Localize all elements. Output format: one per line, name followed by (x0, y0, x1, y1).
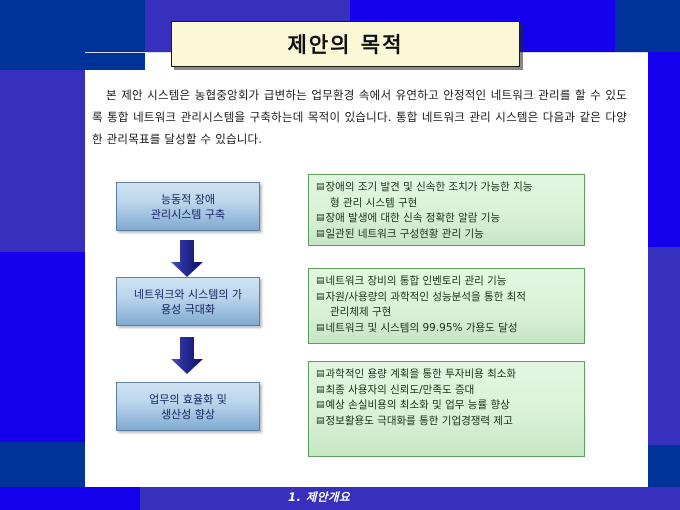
list-item-continuation: 관리체제 구현 (316, 305, 578, 321)
flow-box-1-label: 능동적 장애 관리시스템 구축 (151, 192, 225, 222)
list-item: ▤ 일관된 네트워크 구성현황 관리 기능 (316, 227, 578, 243)
deco-block-top-left-navy (0, 0, 145, 70)
flow-box-2-line1: 네트워크와 시스템의 가 (134, 288, 242, 301)
flow-box-1: 능동적 장애 관리시스템 구축 (116, 182, 260, 231)
flow-box-1-line2: 관리시스템 구축 (151, 208, 225, 221)
list-item-text: 장애의 조기 발견 및 신속한 조치가 가능한 지능 (326, 180, 578, 196)
list-item-text: 자원/사용량의 과학적인 성능분석을 통한 최적 (326, 290, 578, 306)
slide-canvas: 제안의 목적 본 제안 시스템은 농협중앙회가 급변하는 업무환경 속에서 유연… (0, 0, 680, 510)
square-bullet-icon: ▤ (316, 414, 325, 430)
list-item-text: 정보활용도 극대화를 통한 기업경쟁력 제고 (326, 414, 578, 430)
flow-box-2-line2: 용성 극대화 (161, 303, 215, 316)
page-title: 제안의 목적 (288, 29, 404, 59)
list-item: ▤ 네트워크 및 시스템의 99.95% 가용도 달성 (316, 321, 578, 337)
list-item: ▤ 정보활용도 극대화를 통한 기업경쟁력 제고 (316, 414, 578, 430)
flow-box-1-line1: 능동적 장애 (161, 193, 215, 206)
intro-paragraph: 본 제안 시스템은 농협중앙회가 급변하는 업무환경 속에서 유연하고 안정적인… (92, 84, 627, 150)
flow-box-2-label: 네트워크와 시스템의 가 용성 극대화 (134, 287, 242, 317)
deco-block-left-violet (0, 70, 85, 252)
flow-box-3-line1: 업무의 효율화 및 (149, 393, 227, 406)
list-item: ▤ 예상 손실비용의 최소화 및 업무 능률 향상 (316, 398, 578, 414)
deco-block-right-blue (648, 52, 680, 247)
square-bullet-icon: ▤ (316, 180, 325, 196)
list-item: ▤ 장애의 조기 발견 및 신속한 조치가 가능한 지능 (316, 180, 578, 196)
list-item: ▤ 네트워크 장비의 통합 인벤토리 관리 기능 (316, 274, 578, 290)
list-item-text: 장애 발생에 대한 신속 정확한 알람 기능 (326, 211, 578, 227)
list-item-text: 일관된 네트워크 구성현황 관리 기능 (326, 227, 578, 243)
footer-bar (85, 487, 680, 510)
list-item-text: 네트워크 및 시스템의 99.95% 가용도 달성 (326, 321, 578, 337)
square-bullet-icon: ▤ (316, 227, 325, 243)
square-bullet-icon: ▤ (316, 290, 325, 306)
flow-box-3-line2: 생산성 향상 (161, 408, 215, 421)
square-bullet-icon: ▤ (316, 367, 325, 383)
down-arrow-icon-1 (170, 240, 204, 278)
list-item-text: 예상 손실비용의 최소화 및 업무 능률 향상 (326, 398, 578, 414)
deco-block-right-violet (648, 247, 680, 445)
list-item: ▤ 최종 사용자의 신뢰도/만족도 증대 (316, 383, 578, 399)
list-item-text: 과학적인 용량 계획을 통한 투자비용 최소화 (326, 367, 578, 383)
flow-box-2: 네트워크와 시스템의 가 용성 극대화 (116, 277, 260, 326)
list-item: ▤ 과학적인 용량 계획을 통한 투자비용 최소화 (316, 367, 578, 383)
list-item-continuation: 형 관리 시스템 구현 (316, 196, 578, 212)
flow-box-3-label: 업무의 효율화 및 생산성 향상 (149, 392, 227, 422)
list-item: ▤ 자원/사용량의 과학적인 성능분석을 통한 최적 (316, 290, 578, 306)
objectives-panel-2: ▤ 네트워크 장비의 통합 인벤토리 관리 기능 ▤ 자원/사용량의 과학적인 … (308, 268, 585, 344)
deco-block-left-blue (0, 252, 85, 442)
square-bullet-icon: ▤ (316, 383, 325, 399)
square-bullet-icon: ▤ (316, 274, 325, 290)
slide-title-box: 제안의 목적 (171, 21, 520, 67)
objectives-panel-3: ▤ 과학적인 용량 계획을 통한 투자비용 최소화 ▤ 최종 사용자의 신뢰도/… (308, 361, 585, 457)
square-bullet-icon: ▤ (316, 398, 325, 414)
footer-bar-accent (0, 487, 140, 510)
flow-box-3: 업무의 효율화 및 생산성 향상 (116, 382, 260, 431)
down-arrow-icon-2 (170, 337, 204, 375)
footer-section-label: 1. 제안개요 (288, 489, 350, 505)
square-bullet-icon: ▤ (316, 321, 325, 337)
objectives-panel-1: ▤ 장애의 조기 발견 및 신속한 조치가 가능한 지능 형 관리 시스템 구현… (308, 174, 585, 246)
list-item-text: 최종 사용자의 신뢰도/만족도 증대 (326, 383, 578, 399)
list-item-text: 네트워크 장비의 통합 인벤토리 관리 기능 (326, 274, 578, 290)
deco-block-top-right-navy (615, 0, 680, 52)
list-item: ▤ 장애 발생에 대한 신속 정확한 알람 기능 (316, 211, 578, 227)
square-bullet-icon: ▤ (316, 211, 325, 227)
